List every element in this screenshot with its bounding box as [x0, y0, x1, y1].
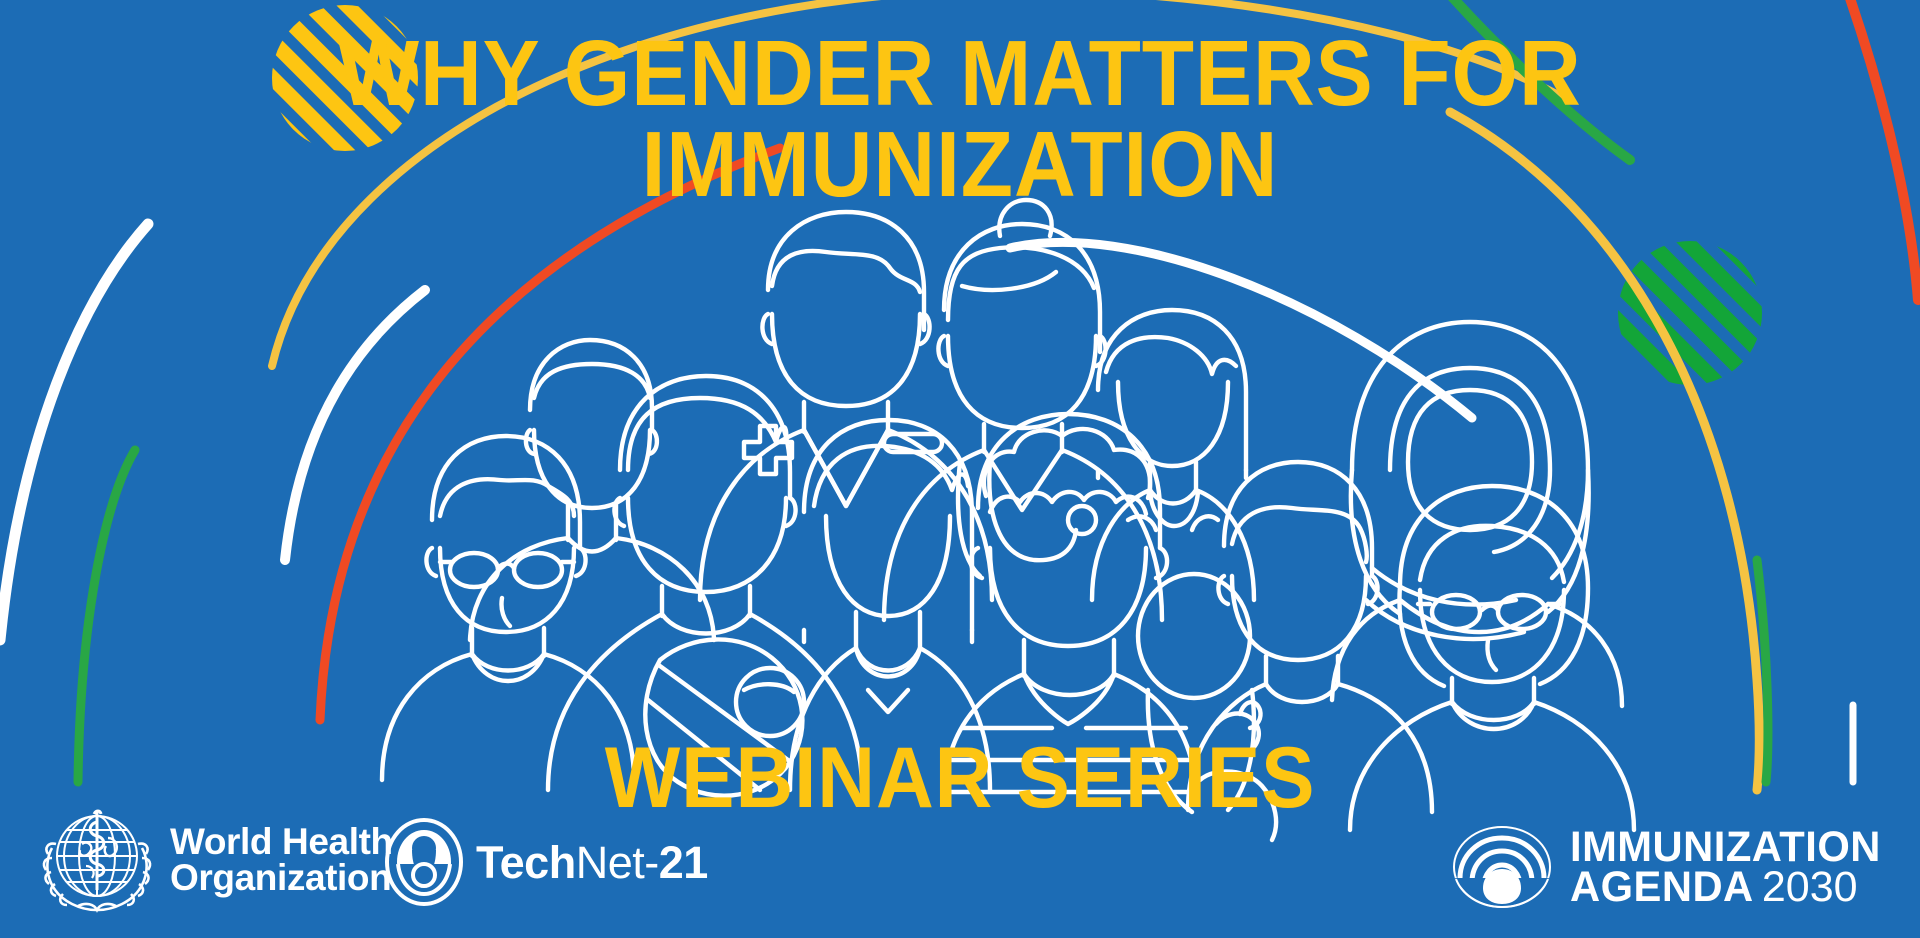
who-logo-text: World Health Organization: [170, 824, 393, 897]
ia2030-logo-text: IMMUNIZATION AGENDA2030: [1570, 827, 1890, 907]
technet-logo-text: TechNet-21: [476, 840, 708, 885]
webinar-banner: WHY GENDER MATTERS FOR IMMUNIZATION WEBI…: [0, 0, 1920, 938]
who-logo: World Health Organization: [38, 804, 393, 916]
ia2030-emblem-icon: [1450, 820, 1554, 914]
person-girl-bangs: [1092, 310, 1254, 600]
who-line-2: Organization: [170, 860, 393, 896]
person-adult-holding-toddler: [1138, 462, 1432, 840]
ia2030-agenda: AGENDA: [1570, 867, 1754, 907]
ia2030-line-1: IMMUNIZATION: [1570, 827, 1881, 867]
technet-logo: TechNet-21: [385, 818, 708, 906]
technet-bold: Tech: [476, 837, 576, 888]
technet-number: 21: [659, 837, 708, 888]
person-older-woman-glasses: [1350, 486, 1634, 830]
technet-emblem-icon: [385, 818, 463, 906]
person-back-boy: [470, 340, 714, 640]
person-boy-striped-shirt: [944, 414, 1196, 800]
person-older-man-glasses: [382, 436, 634, 780]
who-line-1: World Health: [170, 824, 393, 860]
who-emblem-icon: [38, 804, 156, 916]
person-mother-with-baby: [548, 376, 862, 796]
ia2030-year: 2030: [1762, 867, 1858, 907]
logo-row: World Health Organization TechNet-21: [0, 788, 1920, 938]
technet-light: Net-: [576, 837, 659, 888]
ia2030-logo: IMMUNIZATION AGENDA2030: [1450, 820, 1890, 914]
